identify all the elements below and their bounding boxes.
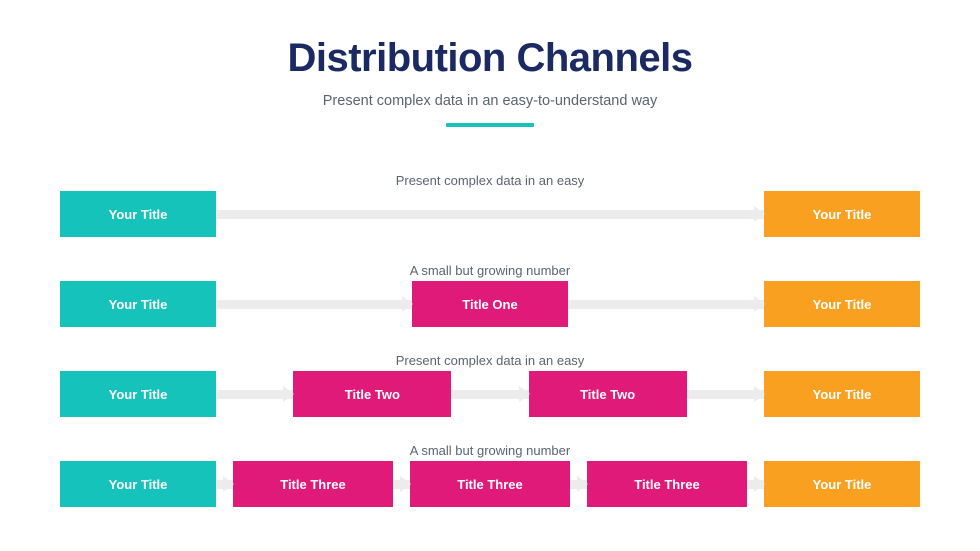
arrow-head-icon [754,476,765,492]
row-caption: Present complex data in an easy [0,353,980,368]
connector-arrow [216,299,412,309]
diagram-rows: Present complex data in an easy Your Tit… [0,160,980,520]
connector-arrow [747,479,764,489]
diagram-row: A small but growing number Your Title Ti… [0,430,980,520]
middle-box[interactable]: Title Two [529,371,687,417]
start-box[interactable]: Your Title [60,191,216,237]
row-caption: A small but growing number [0,263,980,278]
connector-arrow [451,389,528,399]
middle-box[interactable]: Title Three [410,461,570,507]
diagram-row: Present complex data in an easy Your Tit… [0,340,980,430]
start-box[interactable]: Your Title [60,461,216,507]
slide: Distribution Channels Present complex da… [0,0,980,551]
row-flow: Your Title Title Two Title Two Your Titl… [60,371,920,417]
connector-arrow [393,479,410,489]
middle-box[interactable]: Title Three [587,461,747,507]
middle-box[interactable]: Title One [412,281,568,327]
arrow-head-icon [519,386,530,402]
row-flow: Your Title Title Three Title Three Title… [60,461,920,507]
connector-arrow [568,299,764,309]
arrow-head-icon [283,386,294,402]
arrow-head-icon [754,386,765,402]
arrow-head-icon [577,476,588,492]
row-flow: Your Title Title One Your Title [60,281,920,327]
arrow-head-icon [223,476,234,492]
end-box[interactable]: Your Title [764,191,920,237]
end-box[interactable]: Your Title [764,371,920,417]
row-caption: Present complex data in an easy [0,173,980,188]
connector-bar [451,390,528,399]
middle-box[interactable]: Title Two [293,371,451,417]
start-box[interactable]: Your Title [60,281,216,327]
connector-bar [568,300,764,309]
arrow-head-icon [400,476,411,492]
row-flow: Your Title Your Title [60,191,920,237]
connector-bar [216,390,293,399]
end-box[interactable]: Your Title [764,281,920,327]
connector-bar [687,390,764,399]
end-box[interactable]: Your Title [764,461,920,507]
arrow-head-icon [402,296,413,312]
row-caption: A small but growing number [0,443,980,458]
page-title: Distribution Channels [0,36,980,80]
arrow-head-icon [754,206,765,222]
connector-arrow [570,479,587,489]
connector-arrow [687,389,764,399]
diagram-row: Present complex data in an easy Your Tit… [0,160,980,250]
connector-bar [216,300,412,309]
connector-arrow [216,209,764,219]
diagram-row: A small but growing number Your Title Ti… [0,250,980,340]
connector-arrow [216,389,293,399]
arrow-head-icon [754,296,765,312]
connector-bar [216,210,764,219]
start-box[interactable]: Your Title [60,371,216,417]
page-subtitle: Present complex data in an easy-to-under… [0,93,980,109]
slide-header: Distribution Channels Present complex da… [0,0,980,127]
connector-arrow [216,479,233,489]
accent-divider [446,123,534,127]
middle-box[interactable]: Title Three [233,461,393,507]
